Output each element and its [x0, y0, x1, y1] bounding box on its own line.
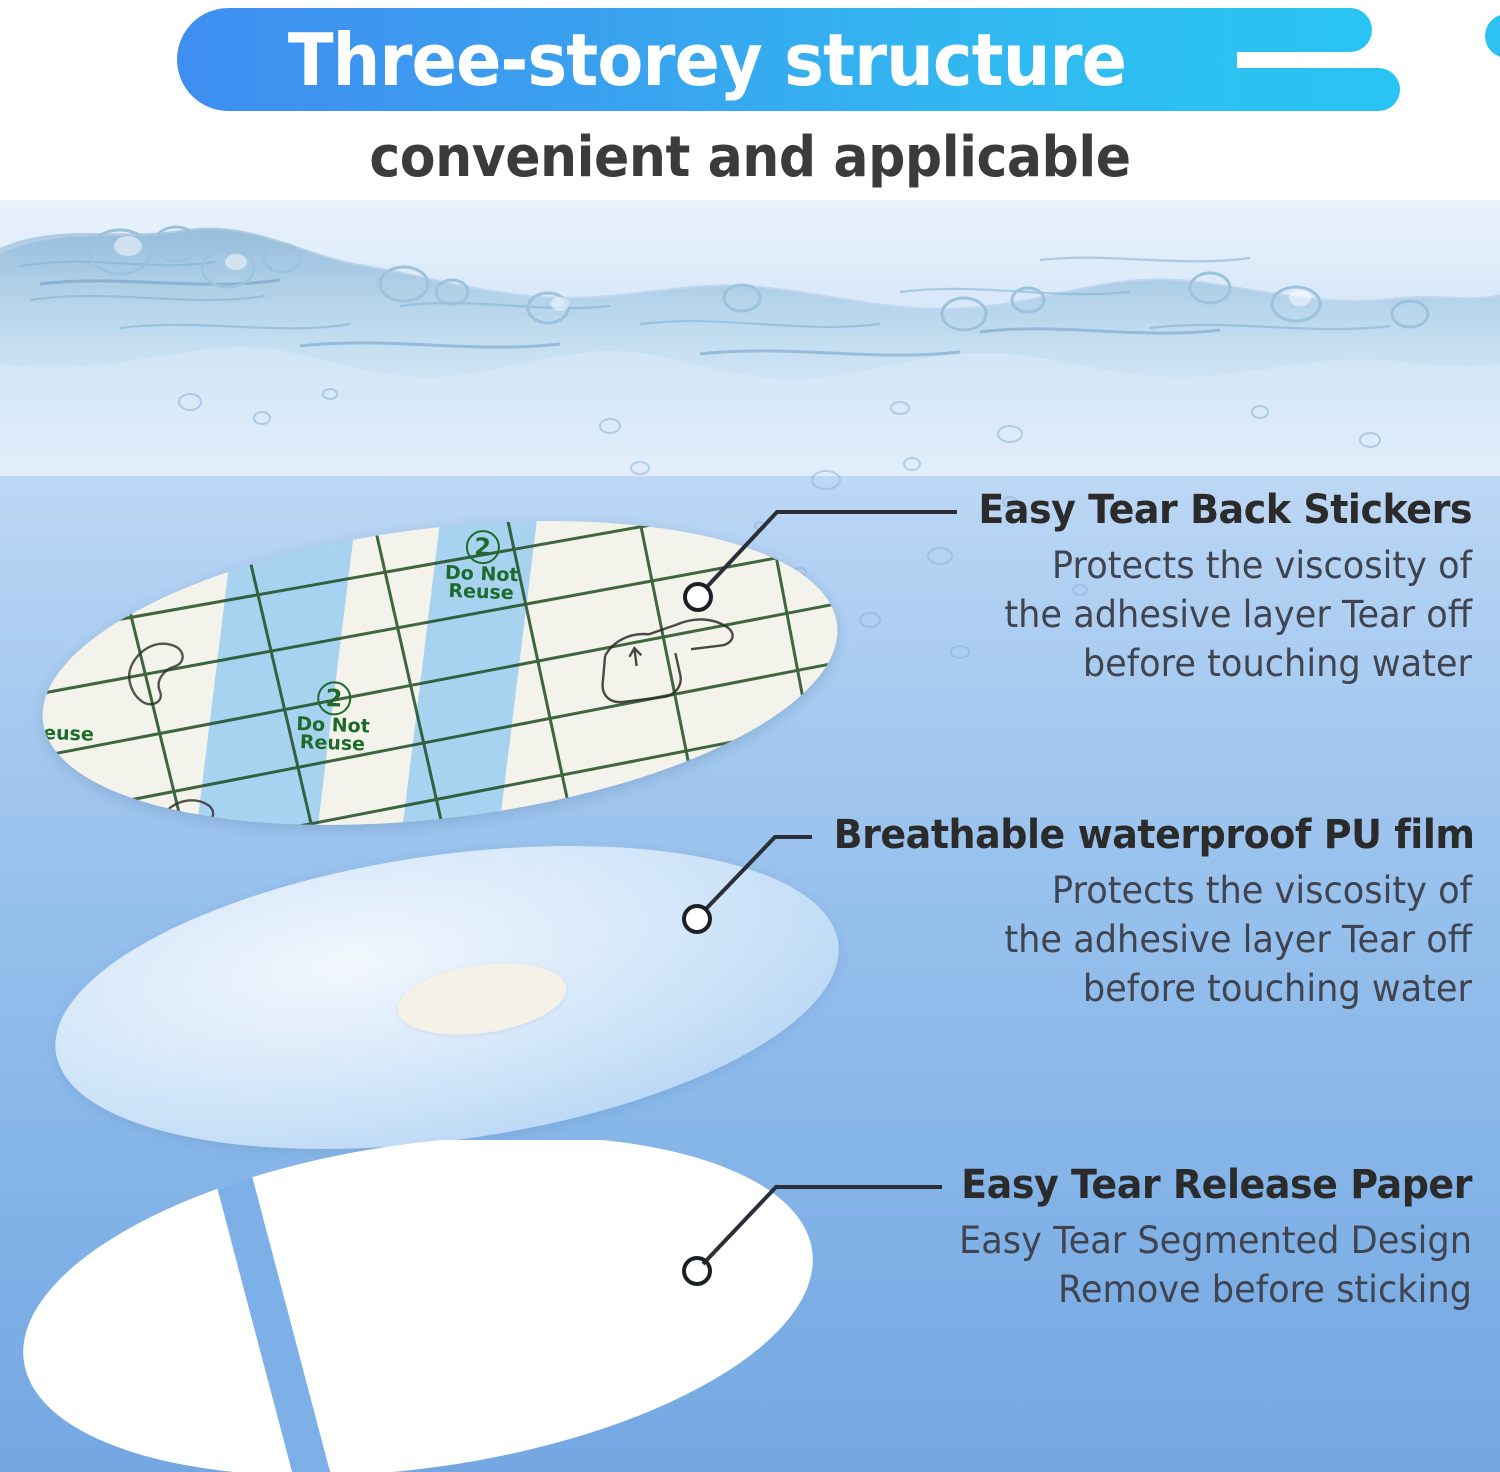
callout-2-title: Breathable waterproof PU film: [834, 812, 1472, 858]
callout-easy-tear-release-paper: Easy Tear Release Paper Easy Tear Segmen…: [870, 1162, 1472, 1314]
callout-2-desc-line-3: before touching water: [834, 964, 1472, 1013]
page-title: Three-storey structure: [214, 8, 1200, 111]
badge-prong-bottom: [1197, 68, 1400, 111]
header: Three-storey structure convenient and ap…: [0, 0, 1500, 200]
callout-3-description: Easy Tear Segmented Design Remove before…: [900, 1216, 1472, 1314]
callout-2-desc-line-2: the adhesive layer Tear off: [834, 915, 1472, 964]
leader-dot-2: [684, 906, 710, 932]
leader-dot-3: [684, 1258, 710, 1284]
callout-2-desc-line-1: Protects the viscosity of: [834, 866, 1472, 915]
callout-1-desc-line-2: the adhesive layer Tear off: [910, 590, 1472, 639]
callout-2-description: Protects the viscosity of the adhesive l…: [834, 866, 1472, 1014]
callout-3-title: Easy Tear Release Paper: [900, 1162, 1472, 1208]
callout-easy-tear-back-stickers: Easy Tear Back Stickers Protects the vis…: [880, 487, 1472, 689]
infographic-stage: 2 Do Not Reuse 2 Do Not Reuse Reuse: [0, 0, 1500, 1472]
callout-1-description: Protects the viscosity of the adhesive l…: [910, 541, 1472, 689]
page-subtitle: convenient and applicable: [53, 125, 1448, 190]
callout-1-desc-line-1: Protects the viscosity of: [910, 541, 1472, 590]
callout-breathable-waterproof-pu-film: Breathable waterproof PU film Protects t…: [800, 812, 1472, 1014]
leader-dot-1: [685, 584, 711, 610]
badge-prong-top: [1197, 8, 1372, 52]
title-badge: Three-storey structure: [177, 8, 1363, 111]
callout-3-desc-line-2: Remove before sticking: [900, 1265, 1472, 1314]
callout-1-desc-line-3: before touching water: [910, 639, 1472, 688]
leader-line-2: [703, 837, 812, 912]
callout-1-title: Easy Tear Back Stickers: [910, 487, 1472, 533]
badge-dot-icon: [1485, 14, 1500, 58]
callout-3-desc-line-1: Easy Tear Segmented Design: [900, 1216, 1472, 1265]
